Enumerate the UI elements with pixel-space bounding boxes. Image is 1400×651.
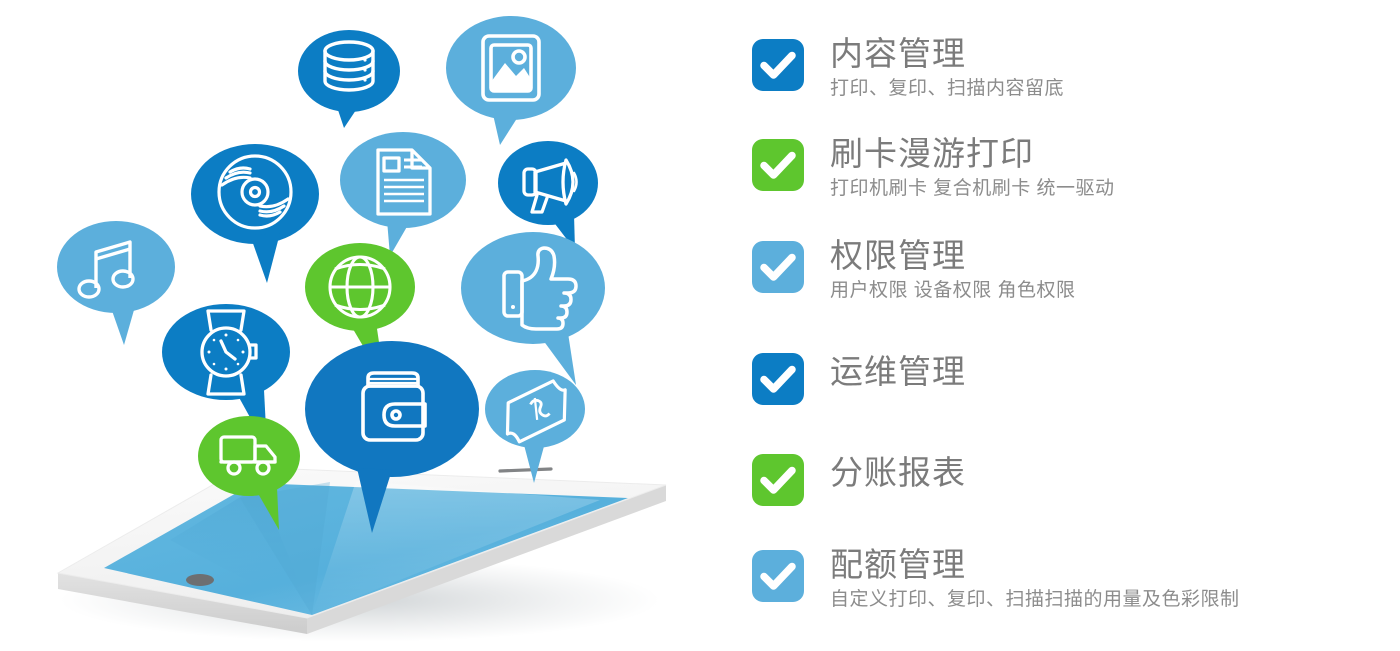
check-icon xyxy=(752,550,804,602)
feature-row-5[interactable]: 分账报表 xyxy=(752,449,1400,506)
bubble-image xyxy=(446,16,576,145)
feature-text-3: 权限管理 用户权限 设备权限 角色权限 xyxy=(830,236,1076,304)
feature-subtitle: 用户权限 设备权限 角色权限 xyxy=(830,278,1076,304)
bubble-database xyxy=(298,30,400,128)
bubble-thumbs-up xyxy=(461,232,605,385)
feature-row-4[interactable]: 运维管理 xyxy=(752,348,1400,405)
feature-text-1: 内容管理 打印、复印、扫描内容留底 xyxy=(830,34,1064,102)
illustration-svg xyxy=(0,0,720,651)
illustration-panel xyxy=(0,0,720,651)
check-icon xyxy=(752,353,804,405)
home-button-icon xyxy=(186,574,214,586)
bubble-music xyxy=(57,221,175,345)
feature-subtitle: 打印机刷卡 复合机刷卡 统一驱动 xyxy=(830,176,1115,202)
globe-icon xyxy=(330,257,390,317)
feature-subtitle: 自定义打印、复印、扫描扫描的用量及色彩限制 xyxy=(830,587,1240,613)
feature-text-4: 运维管理 xyxy=(830,348,966,392)
bubble-document xyxy=(340,132,466,256)
feature-title: 配额管理 xyxy=(830,545,1240,585)
feature-title: 内容管理 xyxy=(830,34,1064,74)
feature-row-3[interactable]: 权限管理 用户权限 设备权限 角色权限 xyxy=(752,236,1400,304)
check-icon xyxy=(752,139,804,191)
feature-title: 分账报表 xyxy=(830,453,966,493)
feature-text-2: 刷卡漫游打印 打印机刷卡 复合机刷卡 统一驱动 xyxy=(830,134,1115,202)
feature-text-6: 配额管理 自定义打印、复印、扫描扫描的用量及色彩限制 xyxy=(830,545,1240,613)
feature-row-2[interactable]: 刷卡漫游打印 打印机刷卡 复合机刷卡 统一驱动 xyxy=(752,134,1400,202)
feature-row-6[interactable]: 配额管理 自定义打印、复印、扫描扫描的用量及色彩限制 xyxy=(752,545,1400,613)
check-box-3[interactable] xyxy=(752,241,804,293)
feature-title: 权限管理 xyxy=(830,236,1076,276)
feature-subtitle: 打印、复印、扫描内容留底 xyxy=(830,76,1064,102)
check-box-1[interactable] xyxy=(752,39,804,91)
check-box-6[interactable] xyxy=(752,550,804,602)
check-box-5[interactable] xyxy=(752,454,804,506)
feature-text-5: 分账报表 xyxy=(830,449,966,493)
check-box-4[interactable] xyxy=(752,353,804,405)
check-box-2[interactable] xyxy=(752,139,804,191)
check-icon xyxy=(752,241,804,293)
feature-title: 运维管理 xyxy=(830,352,966,392)
feature-title: 刷卡漫游打印 xyxy=(830,134,1115,174)
bubble-disc xyxy=(191,144,319,283)
check-icon xyxy=(752,39,804,91)
check-icon xyxy=(752,454,804,506)
bubble-banknote xyxy=(485,370,585,483)
tablet-device xyxy=(58,467,666,642)
feature-list: 内容管理 打印、复印、扫描内容留底 刷卡漫游打印 打印机刷卡 复合机刷卡 统一驱… xyxy=(752,0,1400,651)
feature-row-1[interactable]: 内容管理 打印、复印、扫描内容留底 xyxy=(752,34,1400,102)
speaker-slot-icon xyxy=(500,469,551,471)
